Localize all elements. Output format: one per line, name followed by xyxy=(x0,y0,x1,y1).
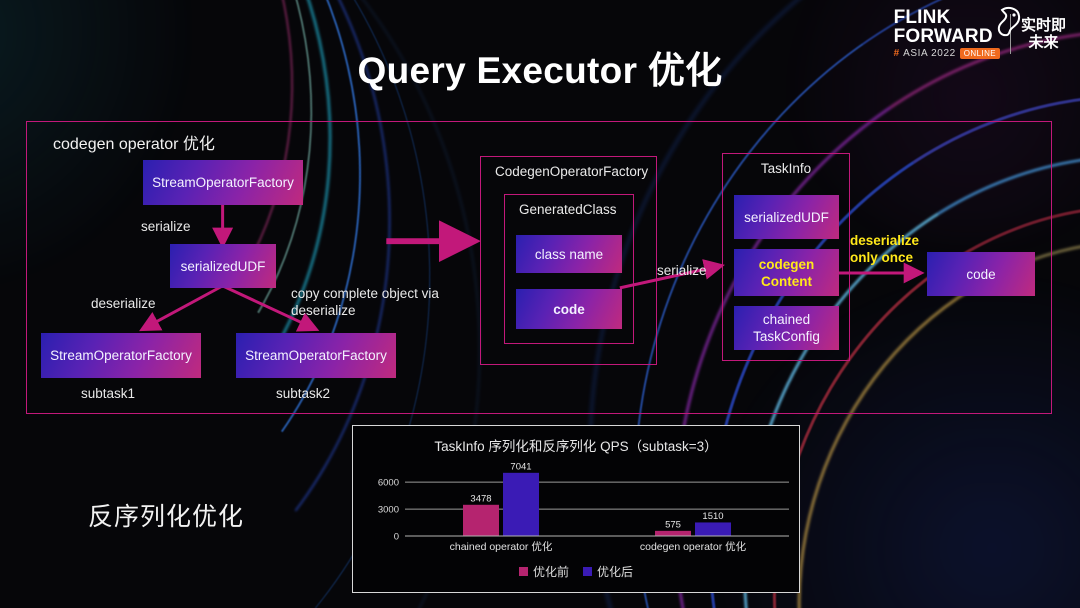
legend-item: 优化前 xyxy=(519,563,569,580)
logo-hash: # xyxy=(894,48,900,59)
section-caption: 反序列化优化 xyxy=(88,497,244,533)
label-deserialize-only-once: deserialize only once xyxy=(850,232,930,266)
chart-bar xyxy=(503,473,539,536)
box-chained-taskconfig: chained TaskConfig xyxy=(734,306,839,350)
box-serialized-udf-right: serializedUDF xyxy=(734,195,839,239)
chart-panel: TaskInfo 序列化和反序列化 QPS（subtask=3） 0300060… xyxy=(352,425,800,593)
box-stream-operator-factory-subtask2: StreamOperatorFactory xyxy=(236,333,396,378)
chart-category-label: chained operator 优化 xyxy=(450,540,553,553)
slide-root: Query Executor 优化 FLINK FORWARD # ASIA 2… xyxy=(0,0,1080,608)
logo-subline: # ASIA 2022 ONLINE xyxy=(894,48,1000,59)
legend-swatch xyxy=(519,567,528,576)
box-stream-operator-factory-top: StreamOperatorFactory xyxy=(143,160,303,205)
frame-title-generated-class: GeneratedClass xyxy=(505,202,633,217)
label-subtask1: subtask1 xyxy=(81,385,135,402)
logo-online-badge: ONLINE xyxy=(960,48,1000,59)
chart-data-label: 575 xyxy=(665,519,681,530)
chart-ytick-label: 0 xyxy=(394,532,399,543)
frame-title-task-info: TaskInfo xyxy=(723,161,849,176)
chart-bar xyxy=(463,505,499,536)
box-codegen-content: codegen Content xyxy=(734,249,839,296)
label-subtask2: subtask2 xyxy=(276,385,330,402)
chart-data-label: 7041 xyxy=(510,461,531,472)
legend-item: 优化后 xyxy=(583,563,633,580)
chart-category-label: codegen operator 优化 xyxy=(640,540,747,553)
chart-ytick-label: 6000 xyxy=(378,478,399,489)
legend-label: 优化前 xyxy=(533,563,569,580)
logo-wordmark: FLINK FORWARD # ASIA 2022 ONLINE xyxy=(894,8,1000,59)
chart-legend: 优化前优化后 xyxy=(353,563,799,580)
label-copy-complete-object: copy complete object via deserialize xyxy=(291,285,461,319)
chart-ytick-label: 3000 xyxy=(378,505,399,516)
flink-forward-logo: FLINK FORWARD # ASIA 2022 ONLINE 实时即 未来 xyxy=(894,8,1066,59)
chart-bar xyxy=(695,522,731,536)
label-deserialize-left: deserialize xyxy=(91,295,156,312)
logo-event: ASIA 2022 xyxy=(903,48,956,59)
chart-data-label: 3478 xyxy=(470,493,491,504)
logo-chinese-text: 实时即 未来 xyxy=(1021,17,1066,51)
chart-bar xyxy=(655,531,691,536)
box-code-final: code xyxy=(927,252,1035,296)
box-stream-operator-factory-subtask1: StreamOperatorFactory xyxy=(41,333,201,378)
squirrel-icon xyxy=(990,4,1024,38)
logo-line-flink: FLINK xyxy=(894,8,951,27)
box-code-inner: code xyxy=(516,289,622,329)
legend-swatch xyxy=(583,567,592,576)
frame-title-codegen-operator-factory: CodegenOperatorFactory xyxy=(481,164,656,179)
box-serialized-udf-left: serializedUDF xyxy=(170,244,276,288)
diagram-panel: codegen operator 优化 StreamOperatorFactor… xyxy=(26,121,1052,414)
label-serialize-right: serialize xyxy=(657,262,707,279)
label-serialize-left: serialize xyxy=(141,218,191,235)
bar-chart: 03000600034787041chained operator 优化5751… xyxy=(353,458,801,558)
logo-cn-line2: 未来 xyxy=(1021,34,1066,51)
legend-label: 优化后 xyxy=(597,563,633,580)
logo-line-forward: FORWARD xyxy=(894,27,993,46)
box-class-name: class name xyxy=(516,235,622,273)
logo-cn-line1: 实时即 xyxy=(1021,17,1066,34)
chart-title: TaskInfo 序列化和反序列化 QPS（subtask=3） xyxy=(353,435,799,455)
chart-data-label: 1510 xyxy=(702,511,723,522)
